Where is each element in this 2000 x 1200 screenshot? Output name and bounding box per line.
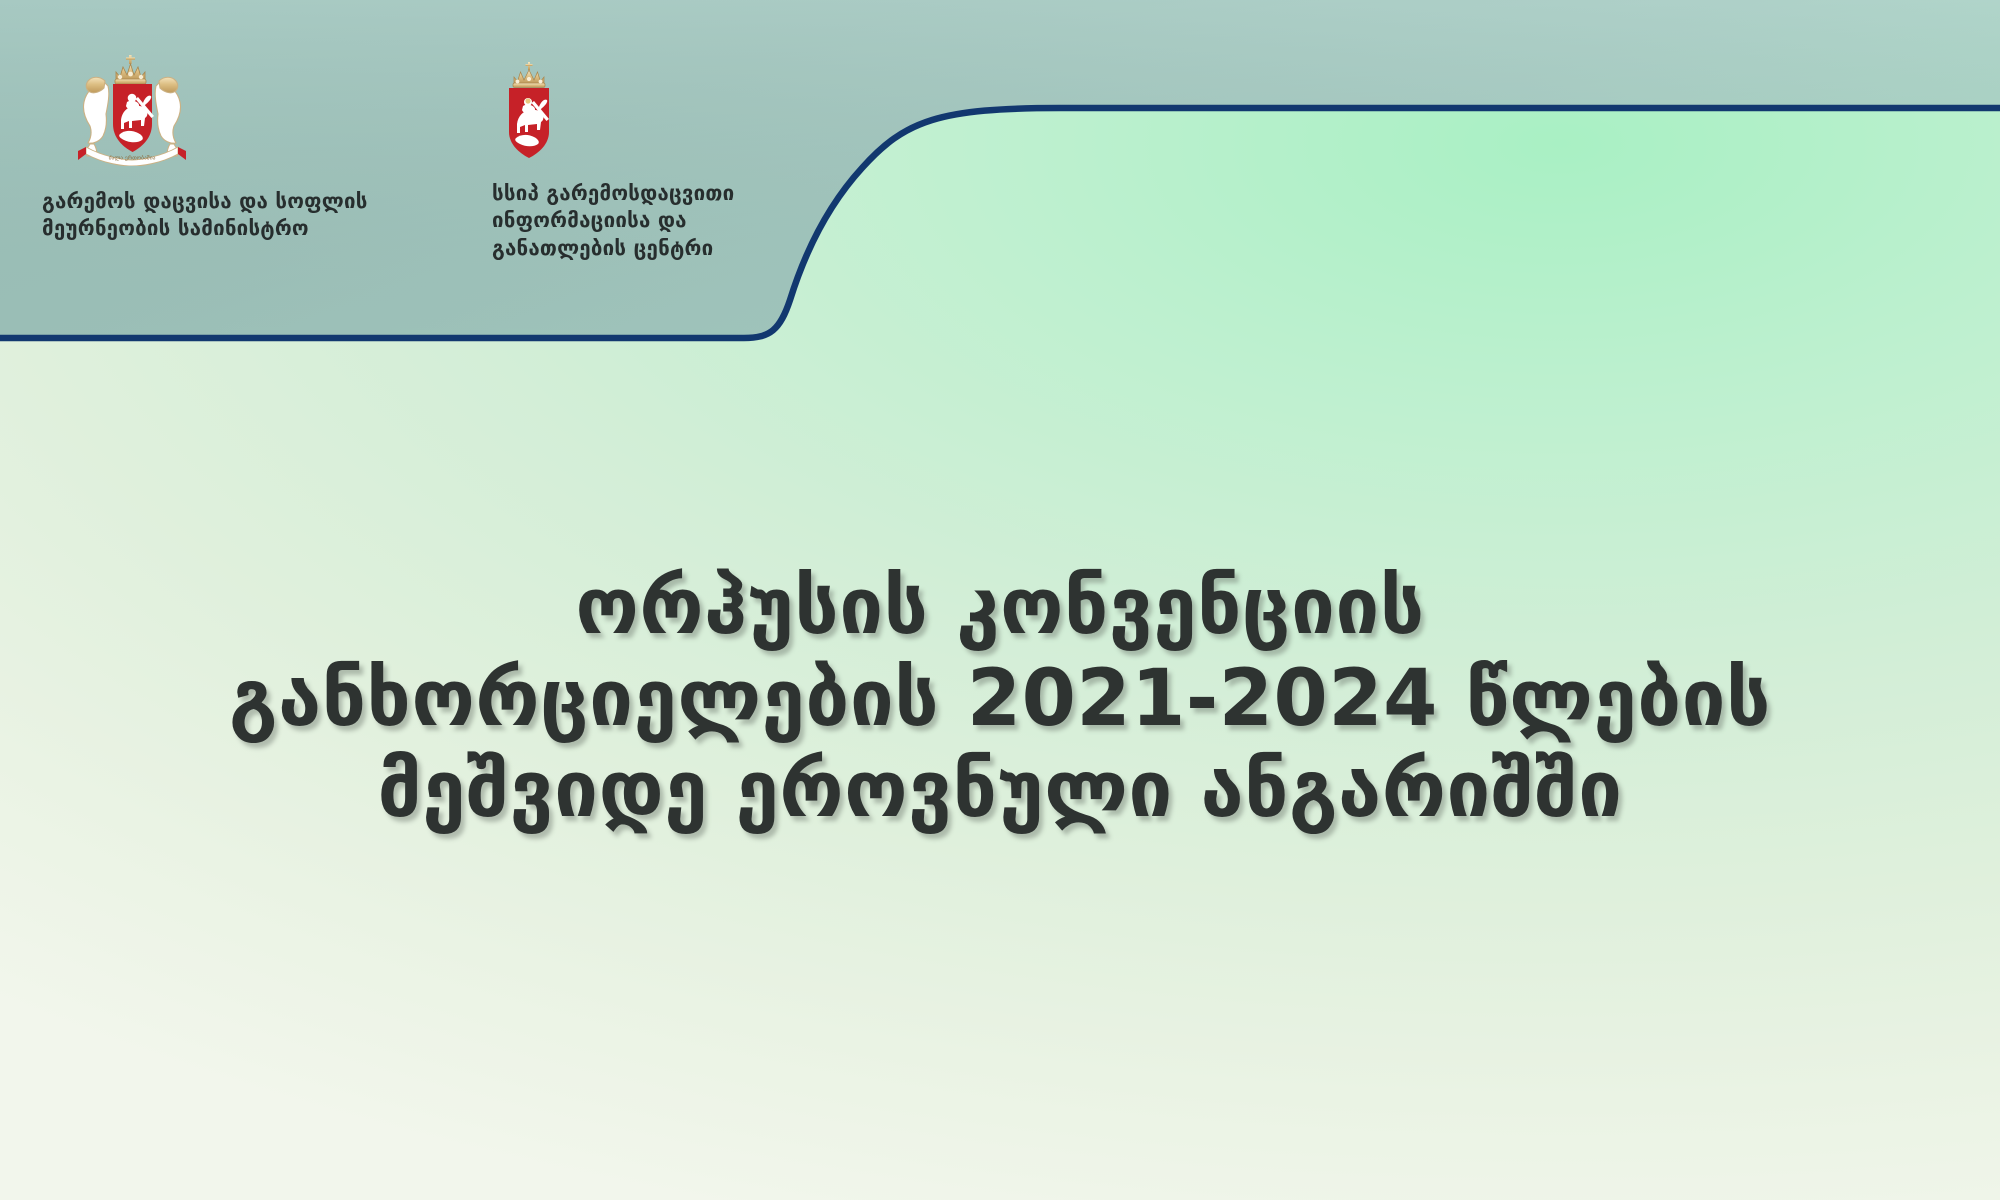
crown-icon: [513, 62, 545, 87]
crown-icon: [115, 55, 146, 84]
logo-block-center: სსიპ გარემოსდაცვითი ინფორმაციისა და განა…: [492, 60, 812, 262]
logo-block-ministry: ძალა ერთობაშია გარემოს დაცვისა და სოფლის…: [42, 48, 462, 243]
georgia-coat-of-arms-emblem: ძალა ერთობაშია: [64, 48, 200, 170]
page-title: ორჰუსის კონვენციის განხორციელების 2021-2…: [0, 562, 2000, 836]
georgia-shield-emblem: [496, 60, 562, 164]
slide-canvas: ძალა ერთობაშია გარემოს დაცვისა და სოფლის…: [0, 0, 2000, 1200]
center-name-text: სსიპ გარემოსდაცვითი ინფორმაციისა და განა…: [492, 180, 734, 262]
ministry-name-text: გარემოს დაცვისა და სოფლის მეურნეობის სამ…: [42, 188, 368, 243]
header-logo-group: ძალა ერთობაშია გარემოს დაცვისა და სოფლის…: [0, 0, 900, 340]
title-area: ორჰუსის კონვენციის განხორციელების 2021-2…: [0, 510, 2000, 888]
svg-text:ძალა ერთობაშია: ძალა ერთობაშია: [109, 155, 156, 162]
